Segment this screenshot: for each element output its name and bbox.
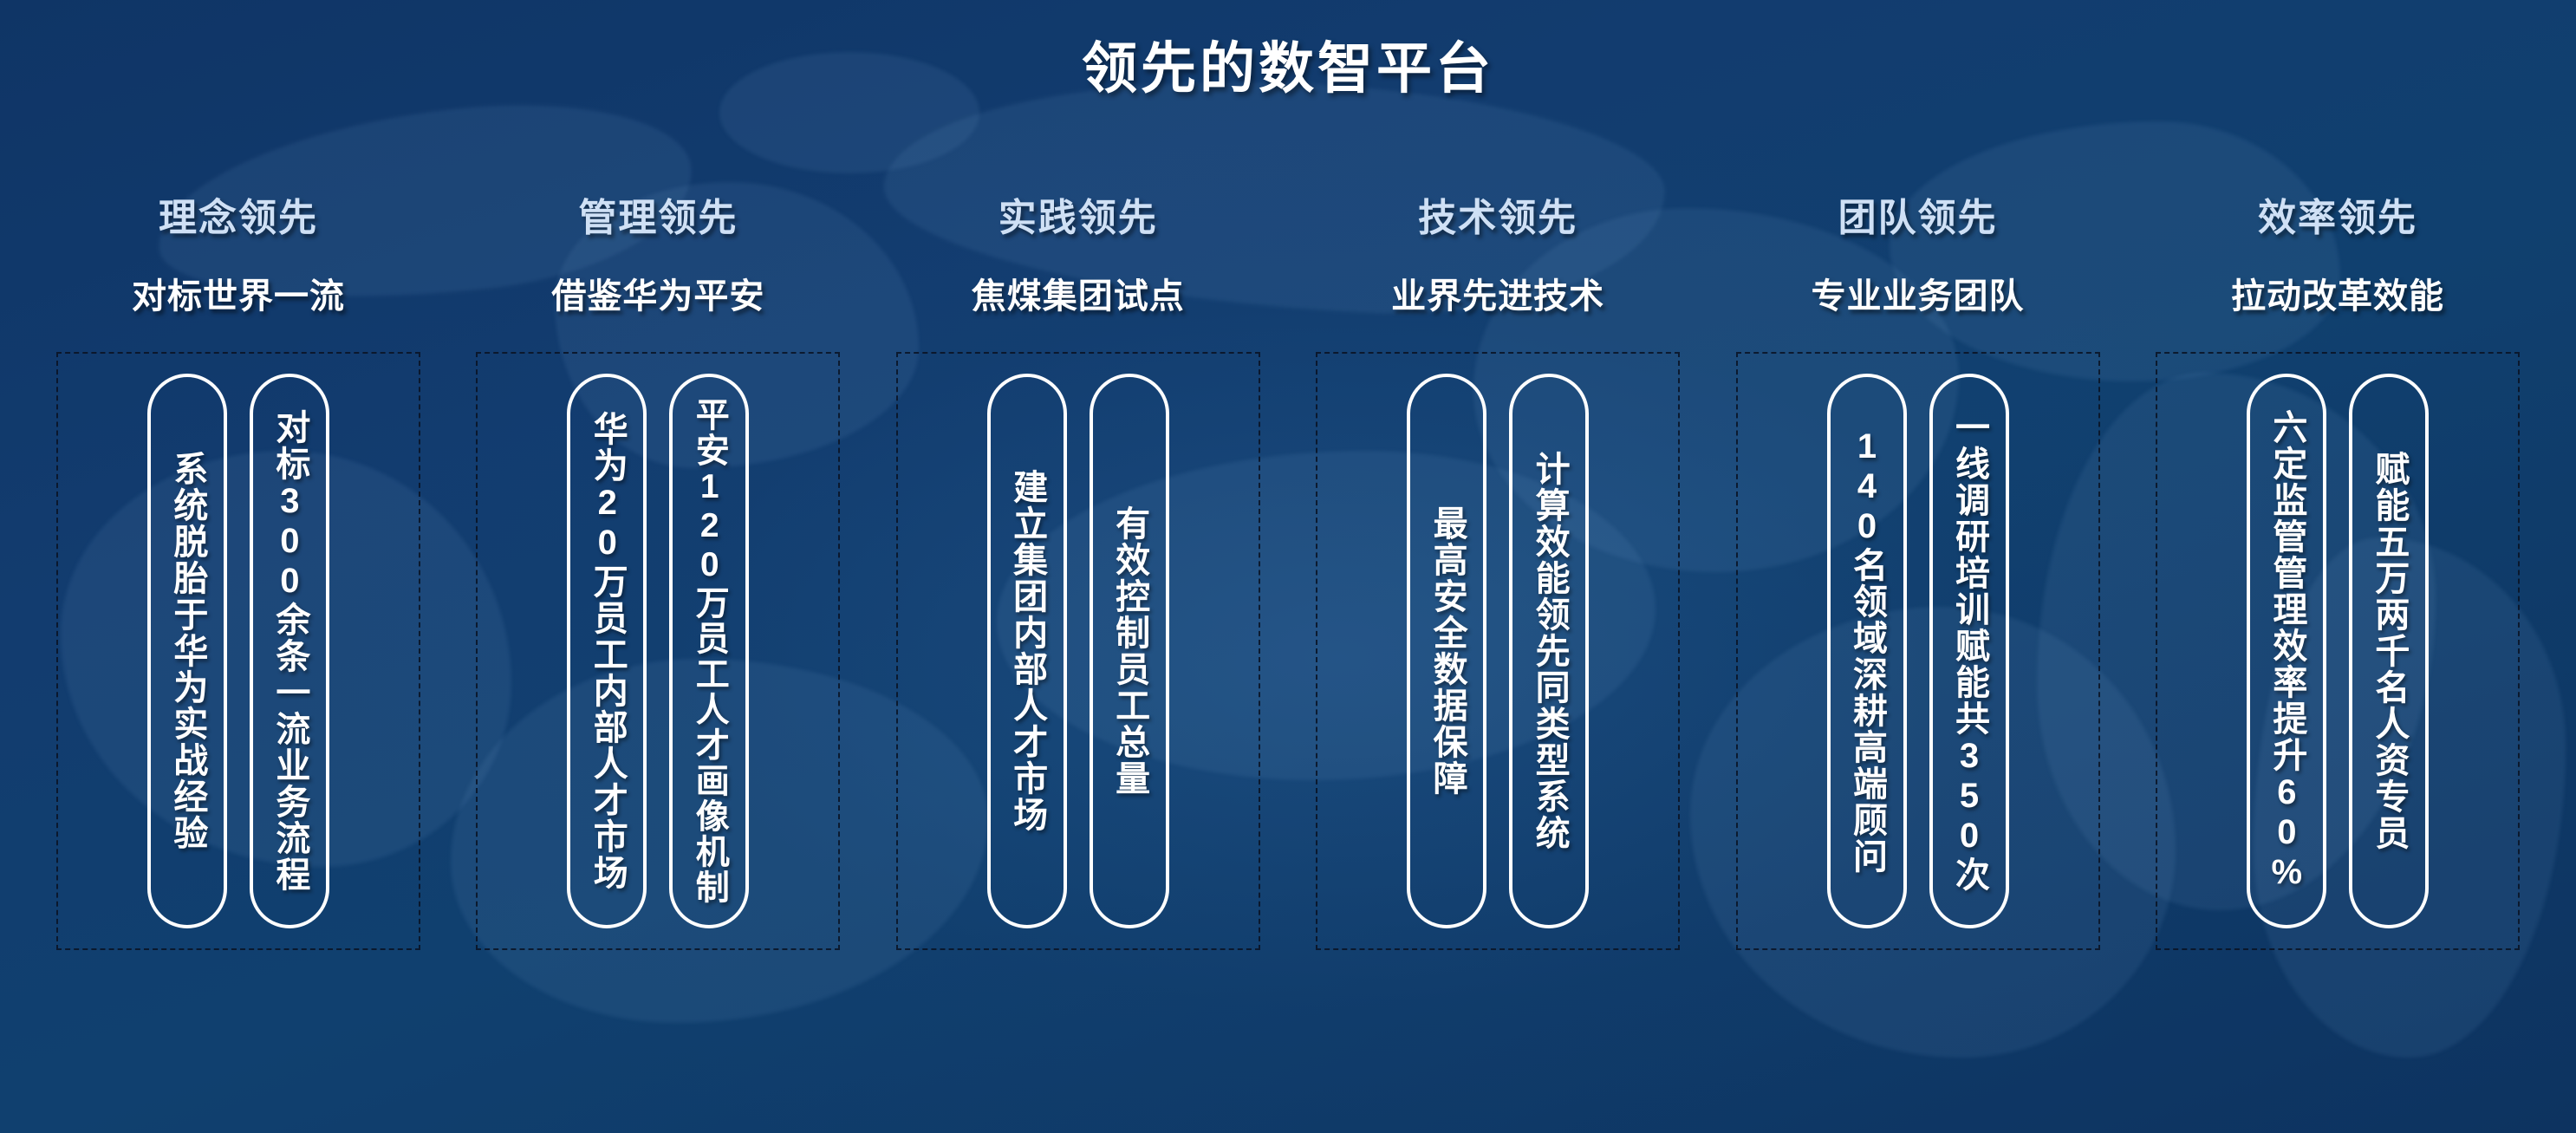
column-guanli: 管理领先 借鉴华为平安 华为20万员工内部人才市场 平安120万员工人才画像机制 <box>454 199 862 950</box>
column-shijian: 实践领先 焦煤集团试点 建立集团内部人才市场 有效控制员工总量 <box>875 199 1282 950</box>
pill-card[interactable]: 赋能五万两千名人资专员 <box>2349 374 2429 928</box>
pill-card[interactable]: 平安120万员工人才画像机制 <box>669 374 749 928</box>
pill-card[interactable]: 六定监管管理效率提升60% <box>2247 374 2326 928</box>
pill-label: 140名领域深耕高端顾问 <box>1847 427 1886 875</box>
pill-card[interactable]: 有效控制员工总量 <box>1090 374 1169 928</box>
pill-group: 建立集团内部人才市场 有效控制员工总量 <box>896 352 1260 950</box>
pill-label: 最高安全数据保障 <box>1428 505 1467 797</box>
columns-container: 理念领先 对标世界一流 系统脱胎于华为实战经验 对标300余条一流业务流程 管理… <box>35 199 2541 1118</box>
pill-card[interactable]: 一线调研培训赋能共350次 <box>1929 374 2009 928</box>
pill-label: 计算效能领先同类型系统 <box>1530 451 1569 851</box>
pill-card[interactable]: 140名领域深耕高端顾问 <box>1827 374 1907 928</box>
column-heading: 理念领先 <box>159 199 318 238</box>
page-title: 领先的数智平台 <box>0 24 2576 104</box>
column-subtitle: 拉动改革效能 <box>2231 279 2444 314</box>
column-lixian: 理念领先 对标世界一流 系统脱胎于华为实战经验 对标300余条一流业务流程 <box>35 199 442 950</box>
pill-label: 平安120万员工人才画像机制 <box>691 397 729 905</box>
slide-root: 领先的数智平台 理念领先 对标世界一流 系统脱胎于华为实战经验 对标300余条一… <box>0 0 2576 1133</box>
pill-card[interactable]: 华为20万员工内部人才市场 <box>567 374 647 928</box>
pill-card[interactable]: 系统脱胎于华为实战经验 <box>147 374 227 928</box>
column-subtitle: 业界先进技术 <box>1391 279 1604 314</box>
pill-group: 六定监管管理效率提升60% 赋能五万两千名人资专员 <box>2156 352 2520 950</box>
pill-label: 建立集团内部人才市场 <box>1007 469 1046 833</box>
column-heading: 管理领先 <box>578 199 738 238</box>
pill-group: 140名领域深耕高端顾问 一线调研培训赋能共350次 <box>1736 352 2100 950</box>
pill-label: 华为20万员工内部人才市场 <box>588 411 627 891</box>
pill-group: 最高安全数据保障 计算效能领先同类型系统 <box>1316 352 1680 950</box>
column-heading: 团队领先 <box>1838 199 1998 238</box>
pill-card[interactable]: 对标300余条一流业务流程 <box>250 374 329 928</box>
column-xiaolv: 效率领先 拉动改革效能 六定监管管理效率提升60% 赋能五万两千名人资专员 <box>2134 199 2541 950</box>
column-heading: 效率领先 <box>2258 199 2417 238</box>
pill-label: 六定监管管理效率提升60% <box>2267 409 2306 893</box>
column-heading: 技术领先 <box>1418 199 1577 238</box>
pill-label: 赋能五万两千名人资专员 <box>2370 451 2409 851</box>
pill-label: 有效控制员工总量 <box>1109 505 1148 797</box>
column-tuandui: 团队领先 专业业务团队 140名领域深耕高端顾问 一线调研培训赋能共350次 <box>1714 199 2122 950</box>
column-subtitle: 焦煤集团试点 <box>972 279 1185 314</box>
column-subtitle: 借鉴华为平安 <box>551 279 764 314</box>
column-subtitle: 对标世界一流 <box>132 279 345 314</box>
pill-card[interactable]: 建立集团内部人才市场 <box>987 374 1067 928</box>
pill-card[interactable]: 最高安全数据保障 <box>1407 374 1486 928</box>
column-heading: 实践领先 <box>999 199 1158 238</box>
column-jishu: 技术领先 业界先进技术 最高安全数据保障 计算效能领先同类型系统 <box>1294 199 1701 950</box>
pill-card[interactable]: 计算效能领先同类型系统 <box>1509 374 1589 928</box>
column-subtitle: 专业业务团队 <box>1812 279 2025 314</box>
pill-label: 对标300余条一流业务流程 <box>270 409 309 893</box>
pill-label: 系统脱胎于华为实战经验 <box>168 451 207 851</box>
pill-group: 华为20万员工内部人才市场 平安120万员工人才画像机制 <box>476 352 840 950</box>
pill-group: 系统脱胎于华为实战经验 对标300余条一流业务流程 <box>56 352 420 950</box>
pill-label: 一线调研培训赋能共350次 <box>1949 409 1988 893</box>
